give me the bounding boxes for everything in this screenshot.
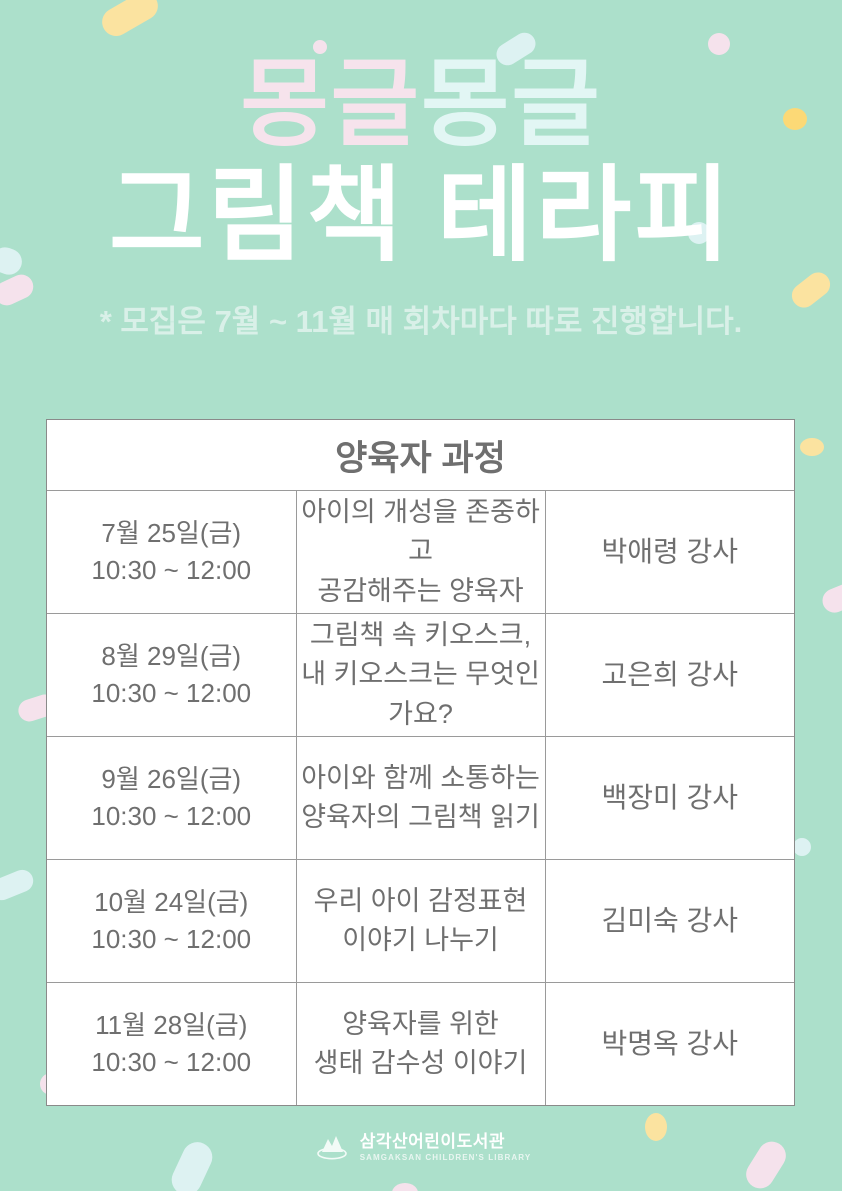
date-text: 10월 24일(금) [47,884,296,921]
topic-line-1: 아이와 함께 소통하는 [297,759,545,798]
table-row: 7월 25일(금)10:30 ~ 12:00아이의 개성을 존중하고공감해주는 … [47,491,794,614]
cell-date: 8월 29일(금)10:30 ~ 12:00 [47,614,296,737]
poster-subtitle: * 모집은 7월 ~ 11월 매 회차마다 따로 진행합니다. [0,296,842,341]
cell-topic: 아이와 함께 소통하는양육자의 그림책 읽기 [296,737,545,860]
library-name-ko: 삼각산어린이도서관 [360,1133,532,1150]
topic-line-2: 공감해주는 양육자 [297,572,545,611]
yellow-capsule-top-left [97,0,163,41]
pink-dot-bottom-center [392,1183,418,1191]
title-block: 몽글몽글 그림책 테라피 * 모집은 7월 ~ 11월 매 회차마다 따로 진행… [0,56,842,341]
schedule-table: 양육자 과정 7월 25일(금)10:30 ~ 12:00아이의 개성을 존중하… [47,420,794,1105]
lecturer-text: 박애령 강사 [546,532,795,571]
cell-lecturer: 김미숙 강사 [545,860,794,983]
lecturer-text: 김미숙 강사 [546,901,795,940]
cell-date: 9월 26일(금)10:30 ~ 12:00 [47,737,296,860]
footer-logo: 삼각산어린이도서관 SAMGAKSAN CHILDREN'S LIBRARY [0,1132,842,1162]
cell-date: 7월 25일(금)10:30 ~ 12:00 [47,491,296,614]
lecturer-text: 고은희 강사 [546,655,795,694]
topic-line-2: 생태 감수성 이야기 [297,1044,545,1083]
date-text: 7월 25일(금) [47,515,296,552]
topic-line-2: 내 키오스크는 무엇인가요? [297,655,545,733]
date-text: 9월 26일(금) [47,761,296,798]
table-header-row: 양육자 과정 [47,420,794,491]
cell-topic: 그림책 속 키오스크,내 키오스크는 무엇인가요? [296,614,545,737]
logo-text-group: 삼각산어린이도서관 SAMGAKSAN CHILDREN'S LIBRARY [360,1133,532,1162]
topic-line-1: 양육자를 위한 [297,1005,545,1044]
cell-lecturer: 박명옥 강사 [545,983,794,1106]
topic-line-2: 양육자의 그림책 읽기 [297,798,545,837]
pink-capsule-right-low [819,580,842,616]
cell-topic: 양육자를 위한생태 감수성 이야기 [296,983,545,1106]
mountain-icon [311,1132,351,1162]
lecturer-text: 백장미 강사 [546,778,795,817]
title-word-mong-geul-1: 몽글 [240,51,421,158]
cell-lecturer: 고은희 강사 [545,614,794,737]
topic-line-1: 우리 아이 감정표현 [297,882,545,921]
cell-lecturer: 박애령 강사 [545,491,794,614]
table-row: 9월 26일(금)10:30 ~ 12:00아이와 함께 소통하는양육자의 그림… [47,737,794,860]
time-text: 10:30 ~ 12:00 [47,1044,296,1081]
schedule-header-title: 양육자 과정 [47,420,794,491]
cell-date: 11월 28일(금)10:30 ~ 12:00 [47,983,296,1106]
cell-date: 10월 24일(금)10:30 ~ 12:00 [47,860,296,983]
pink-dot-top-right [708,33,730,55]
poster-title-line1: 몽글몽글 [0,56,842,154]
date-text: 8월 29일(금) [47,638,296,675]
time-text: 10:30 ~ 12:00 [47,921,296,958]
yellow-dot-table-right [800,438,824,456]
time-text: 10:30 ~ 12:00 [47,675,296,712]
cell-lecturer: 백장미 강사 [545,737,794,860]
table-row: 8월 29일(금)10:30 ~ 12:00그림책 속 키오스크,내 키오스크는… [47,614,794,737]
table-row: 11월 28일(금)10:30 ~ 12:00양육자를 위한생태 감수성 이야기… [47,983,794,1106]
blue-dot-right-table [793,838,811,856]
date-text: 11월 28일(금) [47,1007,296,1044]
topic-line-1: 그림책 속 키오스크, [297,616,545,655]
time-text: 10:30 ~ 12:00 [47,552,296,589]
topic-line-2: 이야기 나누기 [297,921,545,960]
library-name-en: SAMGAKSAN CHILDREN'S LIBRARY [360,1154,532,1162]
poster-root: 몽글몽글 그림책 테라피 * 모집은 7월 ~ 11월 매 회차마다 따로 진행… [0,0,842,1191]
lecturer-text: 박명옥 강사 [546,1024,795,1063]
blue-capsule-left-low2 [0,867,37,904]
schedule-table-container: 양육자 과정 7월 25일(금)10:30 ~ 12:00아이의 개성을 존중하… [46,419,795,1106]
cell-topic: 아이의 개성을 존중하고공감해주는 양육자 [296,491,545,614]
table-row: 10월 24일(금)10:30 ~ 12:00우리 아이 감정표현이야기 나누기… [47,860,794,983]
cell-topic: 우리 아이 감정표현이야기 나누기 [296,860,545,983]
topic-line-1: 아이의 개성을 존중하고 [297,493,545,571]
poster-title-line2: 그림책 테라피 [0,162,842,270]
title-word-mong-geul-2: 몽글 [421,51,602,158]
time-text: 10:30 ~ 12:00 [47,798,296,835]
